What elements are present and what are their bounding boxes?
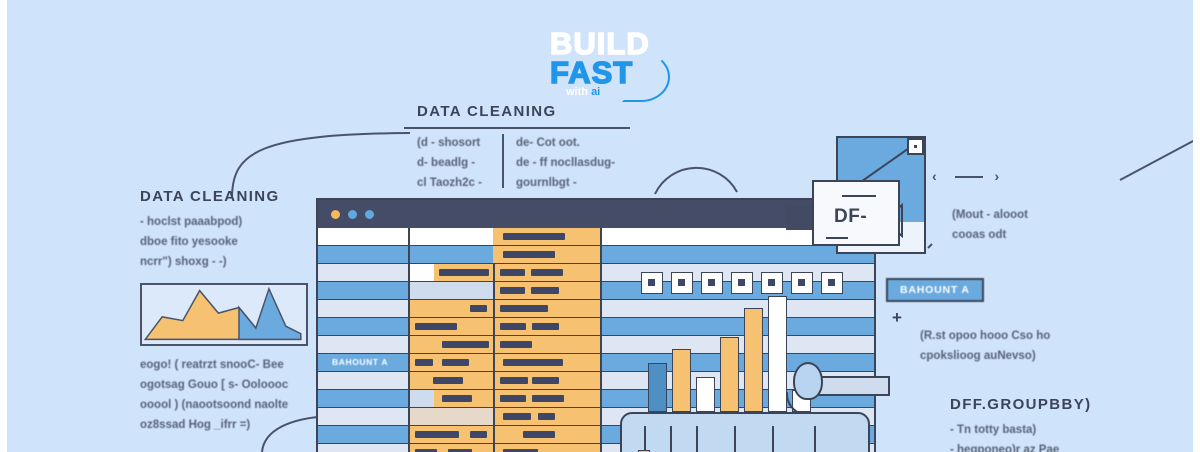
blurb-center-col1-line-0: (d - shosort: [417, 133, 482, 153]
arrow-pair-icon: ‹ ›: [932, 168, 1005, 184]
bar: [768, 296, 787, 412]
bar: [696, 377, 715, 412]
table-row[interactable]: [318, 228, 874, 246]
blurb-left-bottom-line-0: eogo! ( reatrzt snooC- Bee: [140, 355, 288, 375]
blurb-center-col1: (d - shosort d- beadlg - cl Taozh2c -: [417, 133, 482, 193]
window-dot-3-icon[interactable]: [365, 210, 374, 219]
area-chart-svg: [142, 285, 306, 344]
blurb-center-col2-line-2: gournlbgt -: [516, 173, 615, 193]
arrow-line: [955, 176, 983, 178]
blurb-left-bottom: eogo! ( reatrzt snooC- Bee ogotsag Gouo …: [140, 355, 288, 436]
blurb-left-bottom-line-1: ogotsag Gouo [ s- Ooloooc: [140, 375, 288, 395]
blurb-left-top-line-0: - hoclst paaabpod): [140, 212, 242, 232]
df-card-line-bottom: [826, 237, 848, 239]
blurb-column-divider: [502, 134, 504, 188]
status-badge[interactable]: BAHOUNT A: [886, 278, 984, 302]
logo-subtitle-accent: ai: [591, 86, 600, 98]
page-title-center: DATA CLEANING: [417, 103, 557, 120]
bottom-overlay-panel: [620, 412, 870, 452]
illustration-canvas: BUILD FAST with ai DATA CLEANING - hocls…: [0, 0, 1200, 452]
df-card-line-top: [842, 195, 876, 197]
blurb-center-col2-line-1: de - ff nocllasdug-: [516, 153, 615, 173]
blurb-right-mid-line-0: (R.st opoo hooo Cso ho: [920, 326, 1050, 346]
bar: [648, 363, 667, 412]
brand-logo: BUILD FAST with ai: [546, 24, 666, 100]
blurb-center-col2: de- Cot oot. de - ff nocllasdug- gournlb…: [516, 133, 615, 193]
arrow-left-icon: ‹: [932, 168, 943, 184]
plus-icon: +: [892, 308, 902, 328]
bar: [672, 349, 691, 412]
blurb-right-top-line-0: (Mout - alooot: [952, 205, 1028, 225]
blurb-center-col1-line-1: d- beadlg -: [417, 153, 482, 173]
logo-line-fast: FAST: [550, 57, 633, 88]
blurb-right-top: (Mout - alooot cooas odt: [952, 205, 1028, 245]
blurb-right-bottom: - Tn totty basta) - hegponeo)r az Pae: [950, 420, 1059, 452]
blurb-left-top: - hoclst paaabpod) dboe fito yesooke ncr…: [140, 212, 242, 272]
blurb-right-top-line-1: cooas odt: [952, 225, 1028, 245]
bar: [720, 337, 739, 412]
table-row-label: BAHOUNT A: [332, 357, 388, 367]
df-card-label: DF-: [834, 206, 867, 228]
arrow-right-icon: ›: [994, 168, 1005, 184]
left-edge-strip: [0, 0, 7, 452]
window-dot-1-icon[interactable]: [331, 210, 340, 219]
blurb-right-bottom-line-0: - Tn totty basta): [950, 420, 1059, 440]
logo-subtitle-prefix: with: [566, 86, 591, 98]
blurb-right-mid: (R.st opoo hooo Cso ho cpokslioog auNevs…: [920, 326, 1050, 366]
blurb-left-top-line-2: ncrr") shoxg - -): [140, 252, 242, 272]
df-card[interactable]: DF-: [812, 180, 900, 246]
blurb-left-bottom-line-3: oz8ssad Hog _ifrr =): [140, 415, 288, 435]
blurb-left-bottom-line-2: ooool ) (naootsoond naolte: [140, 395, 288, 415]
blurb-center-col2-line-0: de- Cot oot.: [516, 133, 615, 153]
blurb-right-mid-line-1: cpokslioog auNevso): [920, 346, 1050, 366]
page-title-left: DATA CLEANING: [140, 188, 280, 205]
blurb-left-top-line-1: dboe fito yesooke: [140, 232, 242, 252]
bar: [744, 308, 763, 412]
area-chart-card: [140, 283, 308, 346]
page-title-groupby: DFF.GROUPBBY): [950, 396, 1092, 413]
right-edge-strip: [1193, 0, 1200, 452]
blurb-center-col1-line-2: cl Taozh2c -: [417, 173, 482, 193]
blurb-right-bottom-line-1: - hegponeo)r az Pae: [950, 440, 1059, 452]
df-corner-handle-icon[interactable]: [907, 138, 924, 155]
table-row[interactable]: [318, 246, 874, 264]
window-dot-2-icon[interactable]: [348, 210, 357, 219]
logo-swoosh-icon: [622, 52, 670, 102]
logo-subtitle: with ai: [566, 86, 600, 98]
